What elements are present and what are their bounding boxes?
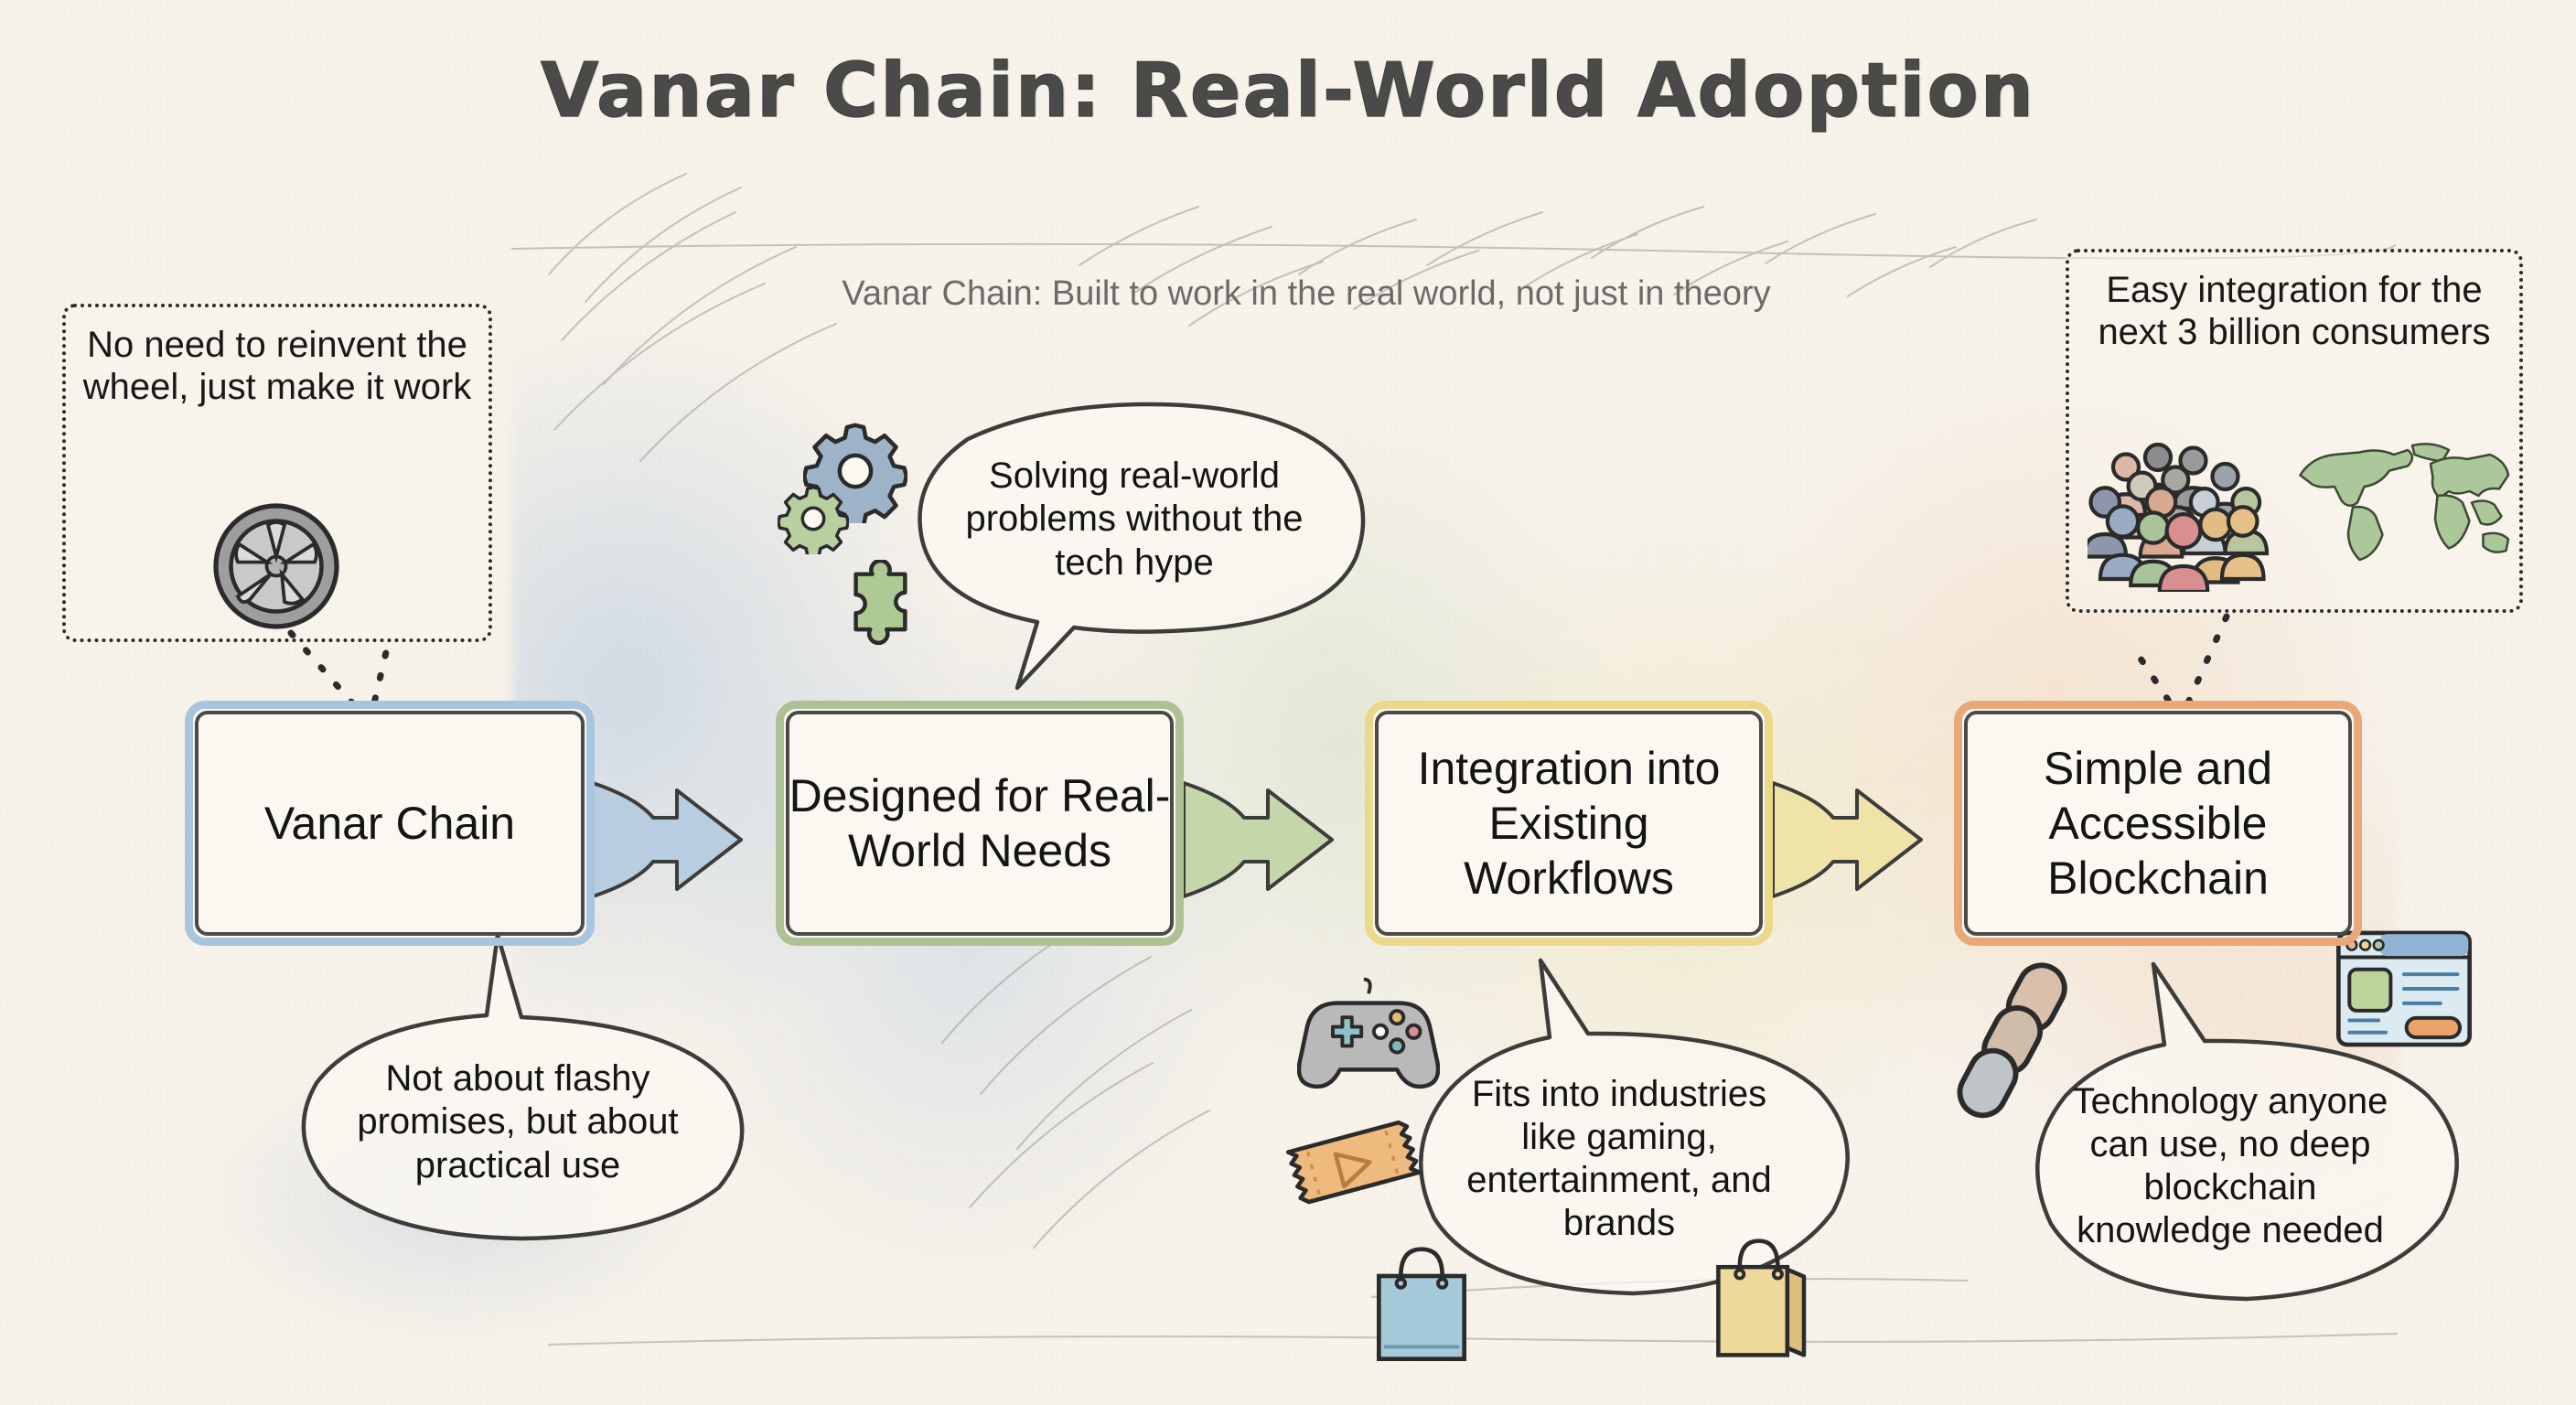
bubble-practical-use-text: Not about flashy promises, but about pra… bbox=[298, 1057, 737, 1187]
ticket-icon bbox=[1277, 1107, 1433, 1226]
tire-wheel-icon bbox=[208, 498, 345, 635]
bubble-tech-hype[interactable]: Solving real-world problems without the … bbox=[915, 410, 1354, 629]
flow-step-real-world-needs-label: Designed for Real-World Needs bbox=[776, 768, 1184, 878]
puzzle-piece-icon bbox=[825, 560, 928, 662]
world-map-icon bbox=[2289, 432, 2517, 578]
shopping-bag-yellow-icon bbox=[1709, 1224, 1828, 1372]
page-subtitle: Vanar Chain: Built to work in the real w… bbox=[684, 274, 1928, 314]
flow-step-real-world-needs[interactable]: Designed for Real-World Needs bbox=[776, 701, 1184, 946]
gamepad-icon bbox=[1297, 977, 1440, 1096]
bubble-anyone-can-use[interactable]: Technology anyone can use, no deep block… bbox=[2029, 1043, 2431, 1290]
note-reinvent-wheel[interactable]: No need to reinvent the wheel, just make… bbox=[62, 304, 492, 642]
bubble-tech-hype-text: Solving real-world problems without the … bbox=[915, 455, 1354, 585]
browser-window-icon bbox=[2331, 926, 2477, 1052]
bubble-practical-use[interactable]: Not about flashy promises, but about pra… bbox=[298, 1017, 737, 1228]
crowd-of-people-icon bbox=[2088, 432, 2280, 592]
note-three-billion-text: Easy integration for the next 3 billion … bbox=[2069, 252, 2519, 358]
flow-step-existing-workflows[interactable]: Integration into Existing Workflows bbox=[1365, 701, 1773, 946]
shopping-bag-blue-icon bbox=[1367, 1233, 1476, 1370]
small-gear-icon bbox=[778, 483, 849, 554]
flow-step-vanar-chain-label: Vanar Chain bbox=[252, 796, 528, 851]
bubble-industries-text: Fits into industries like gaming, entert… bbox=[1427, 1073, 1811, 1246]
infographic-canvas: Vanar Chain: Real-World Adoption Vanar C… bbox=[0, 0, 2576, 1405]
note-reinvent-wheel-text: No need to reinvent the wheel, just make… bbox=[66, 307, 488, 413]
flow-step-simple-blockchain-label: Simple and Accessible Blockchain bbox=[1954, 741, 2362, 906]
page-title: Vanar Chain: Real-World Adoption bbox=[0, 48, 2576, 134]
flow-step-vanar-chain[interactable]: Vanar Chain bbox=[185, 701, 595, 946]
flow-step-simple-blockchain[interactable]: Simple and Accessible Blockchain bbox=[1954, 701, 2362, 946]
note-three-billion[interactable]: Easy integration for the next 3 billion … bbox=[2066, 249, 2523, 613]
flow-step-existing-workflows-label: Integration into Existing Workflows bbox=[1365, 741, 1773, 906]
bubble-anyone-can-use-text: Technology anyone can use, no deep block… bbox=[2029, 1080, 2431, 1253]
